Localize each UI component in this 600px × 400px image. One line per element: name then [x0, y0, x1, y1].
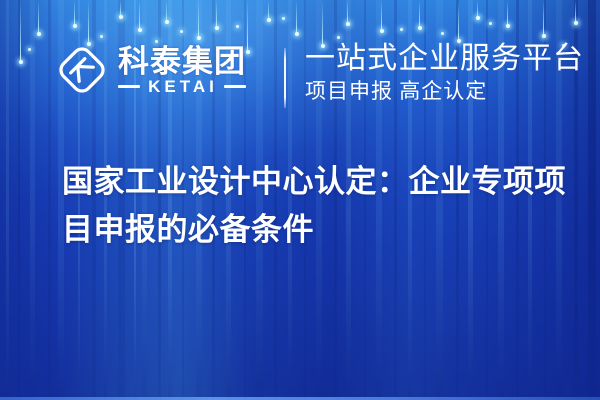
page-title: 国家工业设计中心认定：企业专项项目申报的必备条件	[62, 158, 572, 254]
brand-dash-left-icon	[118, 85, 140, 88]
tagline-sub: 项目申报 高企认定	[305, 78, 584, 104]
tagline-main: 一站式企业服务平台	[305, 42, 584, 76]
brand-name-en-row: KETAI	[118, 78, 246, 95]
brand-name-cn: 科泰集团	[118, 46, 246, 77]
brand-logo[interactable]: 科泰集团 KETAI	[56, 44, 246, 96]
brand-wordmark: 科泰集团 KETAI	[118, 46, 246, 95]
page-title-line-1: 国家工业设计中心认定：企业专项	[62, 164, 535, 199]
brand-name-en: KETAI	[146, 78, 218, 95]
vertical-divider-icon	[284, 48, 286, 108]
tagline-block: 一站式企业服务平台 项目申报 高企认定	[305, 42, 584, 104]
brand-dash-right-icon	[224, 85, 246, 88]
promo-banner: 科泰集团 KETAI 一站式企业服务平台 项目申报 高企认定 国家工业设计中心认…	[0, 0, 600, 400]
banner-header: 科泰集团 KETAI 一站式企业服务平台 项目申报 高企认定	[0, 0, 600, 150]
ketai-diamond-k-logo-icon	[56, 44, 108, 96]
